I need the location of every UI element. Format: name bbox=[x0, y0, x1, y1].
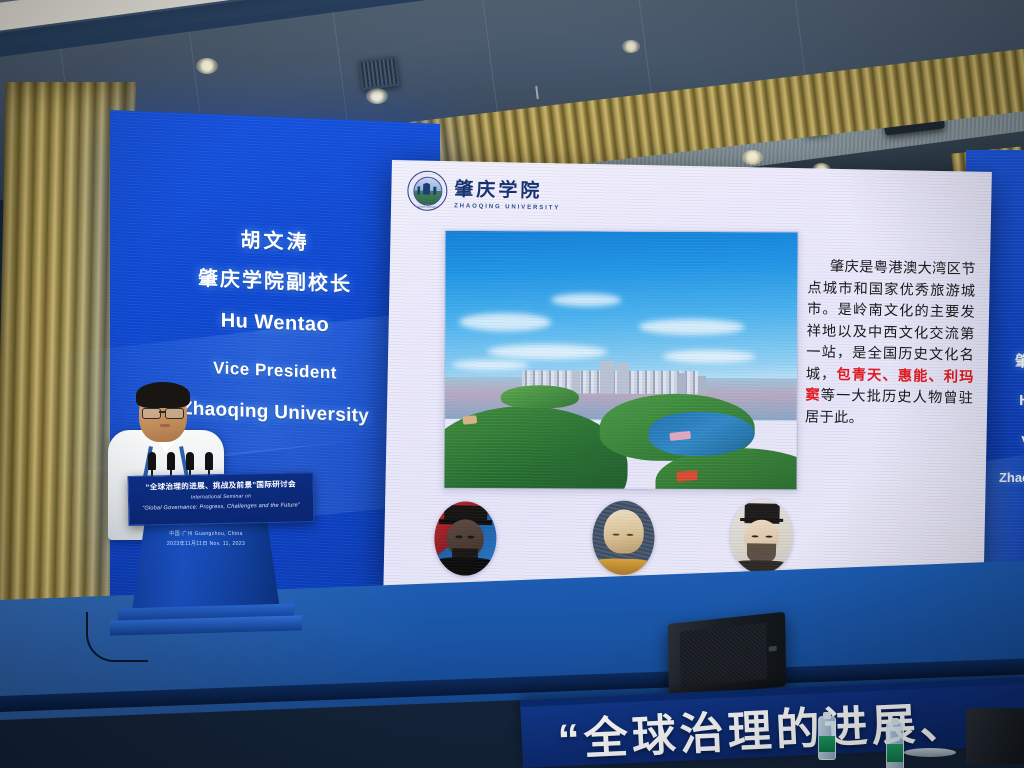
microphone-icon bbox=[205, 452, 213, 470]
led-right-line1: 肇 bbox=[1015, 350, 1024, 371]
stage-monitor-speaker bbox=[668, 612, 787, 699]
air-vent-icon bbox=[358, 56, 399, 90]
projection-screen: ZHAOQING UNIVERSITY 肇庆学院 ZHAOQING UNIVER… bbox=[383, 160, 991, 600]
downlight-icon bbox=[622, 40, 640, 53]
water-bottle bbox=[886, 722, 904, 768]
downlight-icon bbox=[366, 88, 388, 104]
speaker-grill bbox=[680, 623, 768, 689]
podium-sign-cn: “全球治理的进展、挑战及前景”国际研讨会 bbox=[129, 478, 313, 493]
downlight-icon bbox=[742, 150, 763, 165]
floor-cable bbox=[86, 612, 148, 662]
presentation-slide: ZHAOQING UNIVERSITY 肇庆学院 ZHAOQING UNIVER… bbox=[383, 160, 991, 600]
podium-sign: “全球治理的进展、挑战及前景”国际研讨会 International Semin… bbox=[127, 472, 314, 526]
eyeglasses-icon bbox=[165, 408, 184, 419]
water-bottle bbox=[818, 716, 836, 760]
speaker-hair bbox=[136, 382, 190, 408]
podium-location: 中国·广州 Guangzhou, China bbox=[132, 530, 280, 537]
serving-tray bbox=[904, 748, 956, 757]
led-right-line4: Zhao bbox=[999, 470, 1024, 485]
microphone-icon bbox=[186, 452, 194, 470]
podium-date-block: 中国·广州 Guangzhou, China 2023年11月11日 Nov. … bbox=[132, 530, 280, 547]
podium-body: 中国·广州 Guangzhou, China 2023年11月11日 Nov. … bbox=[132, 518, 280, 610]
downlight-icon bbox=[196, 58, 218, 74]
led-right-line2: H bbox=[1019, 392, 1024, 409]
conference-photo-scene: 胡文涛 肇庆学院副校长 Hu Wentao Vice President Zha… bbox=[0, 0, 1024, 768]
microphone-icon bbox=[167, 452, 175, 470]
podium-date: 2023年11月11日 Nov. 11, 2023 bbox=[132, 540, 280, 547]
eyeglasses-icon bbox=[142, 408, 161, 419]
podium-sign-en-1: International Seminar on bbox=[129, 492, 313, 502]
slide-scanlines bbox=[383, 160, 991, 600]
podium-sign-en-2: “Global Governance: Progress, Challenges… bbox=[129, 502, 313, 512]
dark-equipment-box bbox=[966, 708, 1024, 764]
microphone-icon bbox=[148, 452, 156, 470]
speaker-badge bbox=[768, 645, 776, 651]
